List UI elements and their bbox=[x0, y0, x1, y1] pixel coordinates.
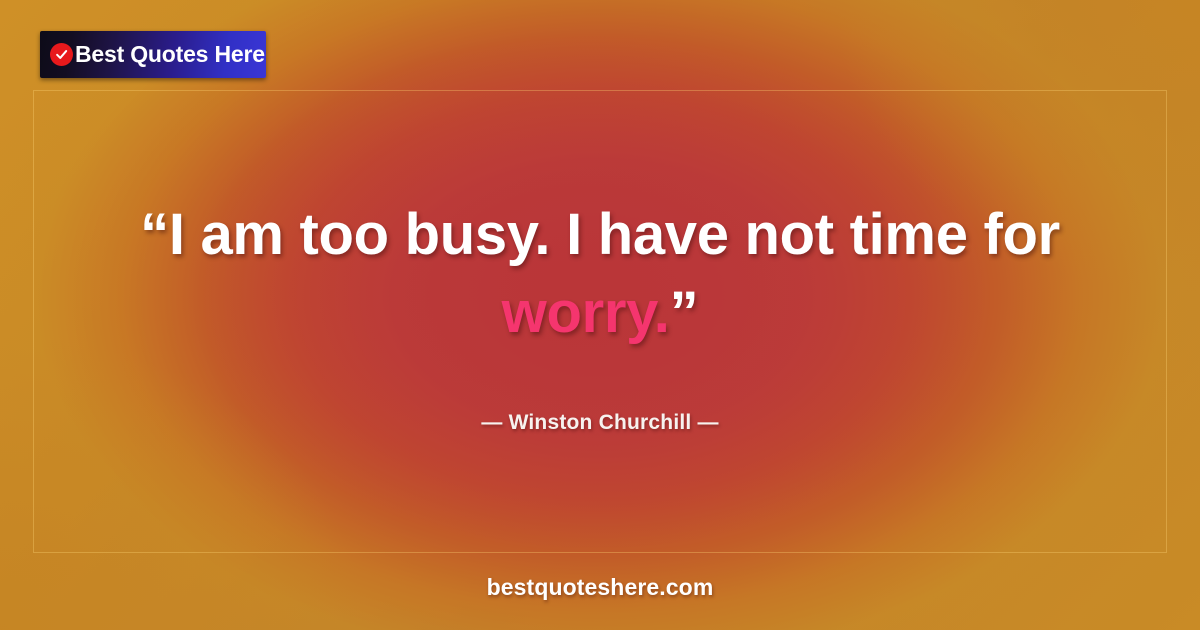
brand-logo-badge[interactable]: Best Quotes Here bbox=[40, 31, 266, 78]
check-circle-icon bbox=[50, 43, 73, 66]
quote-period: . bbox=[654, 280, 670, 345]
brand-logo-label: Best Quotes Here bbox=[75, 43, 265, 67]
quote-author: — Winston Churchill — bbox=[0, 411, 1200, 435]
quote-lead-text: I am too busy. I have not time for bbox=[169, 202, 1060, 267]
site-url-footer: bestquoteshere.com bbox=[0, 574, 1200, 601]
quote-open-mark: “ bbox=[140, 202, 169, 267]
quote-close-mark: ” bbox=[670, 280, 699, 345]
quote-text: “I am too busy. I have not time for worr… bbox=[70, 196, 1130, 351]
quote-card: Best Quotes Here “I am too busy. I have … bbox=[0, 0, 1200, 630]
quote-highlight-word: worry bbox=[502, 280, 654, 345]
